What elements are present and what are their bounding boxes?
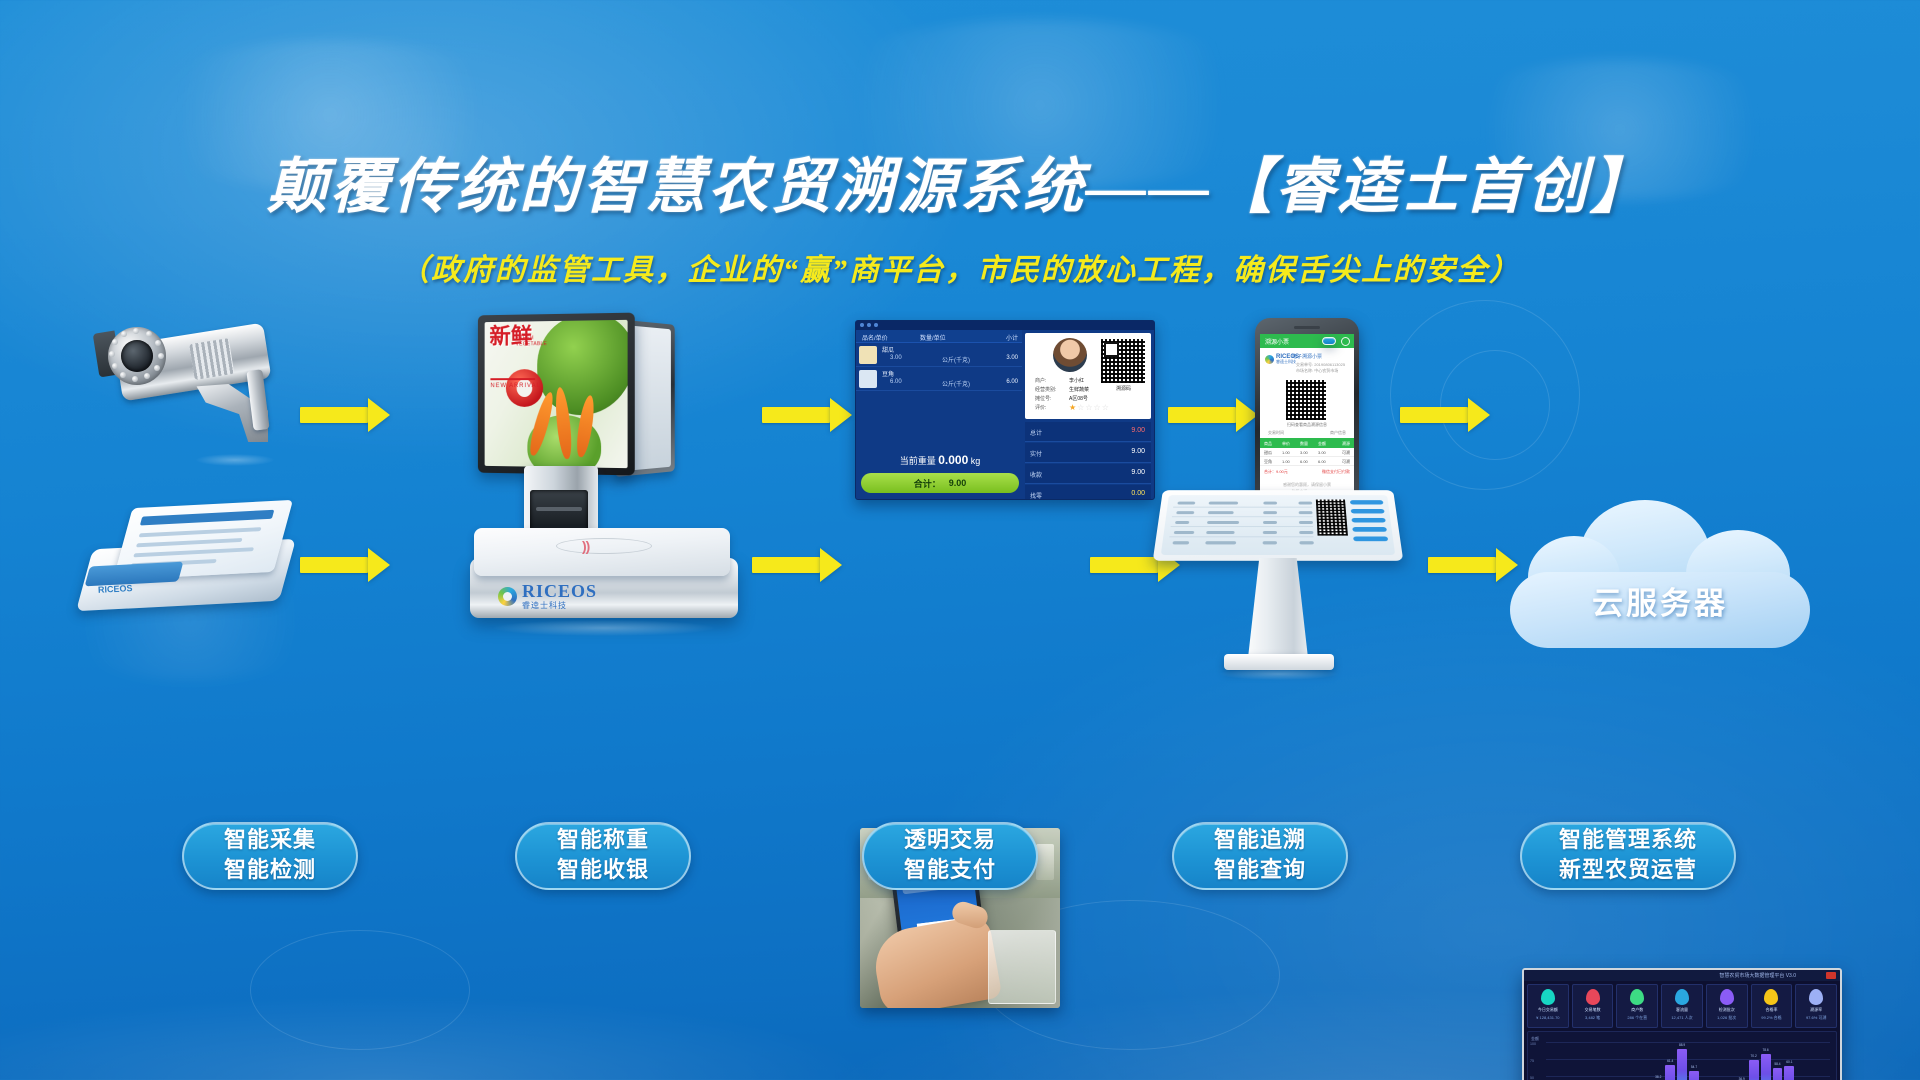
chart-bar-value: 54.7 <box>1691 1065 1697 1069</box>
vendor-field-val: 李小红 <box>1069 377 1084 384</box>
item-qty: 6.00 <box>890 379 902 385</box>
pill-line-1: 透明交易 <box>904 826 996 856</box>
table-row[interactable]: 豆角 6.00 公斤(千克) 6.00 <box>856 367 1024 391</box>
td: 6.00 <box>1300 459 1308 464</box>
phone-menu-icon[interactable] <box>1322 337 1336 345</box>
vendor-field-val: A区08号 <box>1069 395 1088 402</box>
advert-english: FRESHVEGETABLE <box>516 335 548 348</box>
pill-weigh-cashier[interactable]: 智能称重 智能收银 <box>515 822 691 890</box>
amount-key: 实付 <box>1030 449 1042 458</box>
pill-line-2: 智能检测 <box>224 856 316 886</box>
receipt-qr-caption: 扫码查看商品溯源信息 <box>1260 422 1354 428</box>
td: 可溯 <box>1342 450 1350 456</box>
kpi-card[interactable]: 商户数 286 个在营 <box>1616 984 1658 1028</box>
phone-close-icon[interactable] <box>1341 337 1350 346</box>
rfid-icon: )) <box>582 538 589 554</box>
pill-management-system[interactable]: 智能管理系统 新型农贸运营 <box>1520 822 1736 890</box>
pill-line-1: 智能采集 <box>224 826 316 856</box>
trace-col-2: 小计 <box>1006 333 1018 342</box>
chart-bar: 70.2 <box>1749 1060 1759 1080</box>
flow-arrow-4 <box>1400 398 1492 432</box>
page-subtitle: （政府的监管工具，企业的“赢”商平台，市民的放心工程，确保舌尖上的安全） <box>0 245 1920 289</box>
flow-arrow-3 <box>1168 398 1260 432</box>
kpi-label: 今日交易额 <box>1528 1007 1568 1013</box>
scale-main-display: 新鲜 FRESHVEGETABLE NEW ARRIVAL <box>478 313 635 476</box>
kpi-value: ¥ 128,431.70 <box>1528 1015 1568 1020</box>
amount-key: 收款 <box>1030 470 1042 479</box>
chart-bar-value: 38.2 <box>1655 1075 1661 1079</box>
kpi-label: 合格率 <box>1752 1007 1792 1013</box>
vendor-card: 溯源码 商户: 李小红 经营类别: 生鲜蔬菜 摊位号: A区08号 评价: ★☆… <box>1025 333 1151 419</box>
amount-row: 收款 9.00 <box>1025 464 1151 484</box>
kpi-label: 溯源率 <box>1796 1007 1836 1013</box>
kiosk-button[interactable] <box>1351 518 1385 523</box>
capability-pills: 智能采集 智能检测 智能称重 智能收银 透明交易 智能支付 智能追溯 智能查询 … <box>0 822 1920 902</box>
th-1: 单价 <box>1282 441 1290 447</box>
flow-arrow-2 <box>762 398 854 432</box>
th-3: 金额 <box>1318 441 1326 447</box>
total-value: 9.00 <box>949 478 967 488</box>
chart-y-tick: 100 <box>1530 1042 1536 1046</box>
amount-key: 找零 <box>1030 491 1042 500</box>
bar-chart: 金额 1007550250 10.638.261.488.954.730.124… <box>1527 1031 1837 1080</box>
pill-line-2: 智能收银 <box>557 856 649 886</box>
trace-col-1: 数量/单位 <box>920 333 946 342</box>
pill-line-1: 智能管理系统 <box>1559 826 1697 856</box>
kpi-value: 3,482 笔 <box>1573 1015 1613 1021</box>
pill-line-2: 智能查询 <box>1214 856 1306 886</box>
kiosk-qr-code[interactable] <box>1316 499 1348 535</box>
dashboard-title: 智慧农贸市场大数据管理平台 V3.0 <box>1719 972 1796 979</box>
kpi-label: 交易笔数 <box>1573 1007 1613 1013</box>
camera-ridges <box>189 338 234 380</box>
kpi-label: 检测批次 <box>1707 1007 1747 1013</box>
amount-value: 0.00 <box>1131 490 1145 497</box>
dashboard-kpi-strip: 今日交易额 ¥ 128,431.70 交易笔数 3,482 笔 商户数 286 … <box>1527 984 1837 1028</box>
camera-ir-leds <box>108 327 166 385</box>
weight-value: 0.000 <box>938 453 968 467</box>
chart-bar-value: 58.4 <box>1774 1062 1780 1066</box>
phone-navbar: 溯源小票 <box>1260 334 1354 348</box>
trace-qr-code[interactable] <box>1101 339 1145 383</box>
receipt-subline-1: 市场名称: 中心农贸市场 <box>1296 368 1338 374</box>
kpi-card[interactable]: 客流量 12,471 人次 <box>1661 984 1703 1028</box>
management-dashboard: 智慧农贸市场大数据管理平台 V3.0 今日交易额 ¥ 128,431.70 交易… <box>1522 968 1842 1080</box>
amount-value: 9.00 <box>1131 469 1145 476</box>
brand-latin: RICEOS <box>522 582 597 602</box>
item-name: 甜瓜 <box>882 345 894 354</box>
td: 可溯 <box>1342 459 1350 465</box>
item-amount: 6.00 <box>1006 379 1018 385</box>
td: 豆角 <box>1264 459 1272 465</box>
vegetable-advert: 新鲜 FRESHVEGETABLE NEW ARRIVAL <box>485 320 628 468</box>
advert-footer: NEW ARRIVAL <box>490 383 540 389</box>
trace-column-header: 品名/单价 数量/单位 小计 <box>856 330 1024 343</box>
trace-sidepanel: 溯源码 商户: 李小红 经营类别: 生鲜蔬菜 摊位号: A区08号 评价: ★☆… <box>1022 330 1154 499</box>
item-name: 豆角 <box>882 369 894 378</box>
phone-speaker <box>1294 326 1320 329</box>
pos-weighing-scale: 新鲜 FRESHVEGETABLE NEW ARRIVAL )) RICEOS … <box>470 314 770 714</box>
dashboard-titlebar: 智慧农贸市场大数据管理平台 V3.0 <box>1524 970 1840 981</box>
kiosk-shadow <box>1220 668 1338 680</box>
vendor-field-val: 生鲜蔬菜 <box>1069 386 1089 393</box>
cloud-server: 云服务器 <box>1510 500 1810 660</box>
vendor-field-key: 商户: <box>1035 377 1046 384</box>
vendor-field-key: 摊位号: <box>1035 395 1051 402</box>
table-row[interactable]: 甜瓜 3.00 公斤(千克) 3.00 <box>856 343 1024 367</box>
kpi-label: 商户数 <box>1617 1007 1657 1013</box>
chart-bar-value: 61.4 <box>1667 1059 1673 1063</box>
kpi-value: 12,471 人次 <box>1662 1015 1702 1021</box>
detector-brand: RICEOS <box>98 583 133 595</box>
td: 6.00 <box>1318 459 1326 464</box>
chart-bar: 88.9 <box>1677 1049 1687 1080</box>
food-safety-detector: RICEOS <box>86 498 296 618</box>
kiosk-button[interactable] <box>1351 509 1385 513</box>
pill-line-1: 智能称重 <box>557 826 649 856</box>
kiosk-button[interactable] <box>1352 527 1387 532</box>
pill-transparent-pay[interactable]: 透明交易 智能支付 <box>862 822 1038 890</box>
receipt-qr-code[interactable] <box>1286 380 1326 420</box>
amount-key: 总计 <box>1030 428 1042 437</box>
item-amount: 3.00 <box>1006 355 1018 361</box>
headline-block: 颠覆传统的智慧农贸溯源系统——【睿逵士首创】 （政府的监管工具，企业的“赢”商平… <box>0 138 1920 289</box>
list-item: 豆角 1.00 6.00 6.00 可溯 <box>1260 457 1354 466</box>
th-4: 溯源 <box>1342 441 1350 447</box>
trace-col-0: 品名/单价 <box>862 333 888 342</box>
chart-bar-value: 78.6 <box>1762 1048 1768 1052</box>
item-thumbnail <box>859 346 877 364</box>
amount-value: 9.00 <box>1131 448 1145 455</box>
amount-value: 9.00 <box>1131 427 1145 434</box>
chart-bar: 58.4 <box>1773 1068 1783 1080</box>
receipt-total-line: 合计：9.00元 微信支付已付款 <box>1260 468 1354 477</box>
td: 甜瓜 <box>1264 450 1272 456</box>
chart-bar-value: 60.1 <box>1786 1060 1792 1064</box>
qr-caption: 溯源码 <box>1116 385 1131 392</box>
chart-y-tick: 75 <box>1530 1059 1534 1063</box>
list-item: 甜瓜 1.00 3.00 3.00 可溯 <box>1260 448 1354 457</box>
chart-bar: 54.7 <box>1689 1071 1699 1080</box>
th-0: 商品 <box>1264 441 1272 447</box>
total-label: 合计： <box>914 477 941 490</box>
kpi-card[interactable]: 溯源率 97.6% 可溯 <box>1795 984 1837 1028</box>
scale-shadow <box>494 620 714 636</box>
kpi-card[interactable]: 合格率 99.2% 合格 <box>1751 984 1793 1028</box>
item-qty: 3.00 <box>890 355 902 361</box>
td: 1.00 <box>1282 450 1290 455</box>
chart-bars: 10.638.261.488.954.730.124.522.836.970.2… <box>1546 1042 1830 1080</box>
phone-nav-title: 溯源小票 <box>1265 337 1289 346</box>
receipt-meta-left: 交易时间 <box>1268 430 1284 436</box>
item-thumbnail <box>859 370 877 388</box>
receipt-paystatus: 微信支付已付款 <box>1322 469 1350 475</box>
receipt-meta-right: 商户信息 <box>1330 430 1346 436</box>
chart-bar: 78.6 <box>1761 1054 1771 1080</box>
phone-screen: 溯源小票 RICEOS 睿逵士科技 电子溯源小票 交易单号: 201908061… <box>1260 334 1354 494</box>
flow-arrow-5 <box>300 548 392 582</box>
kiosk-button[interactable] <box>1350 500 1384 504</box>
item-unit: 公斤(千克) <box>942 355 970 364</box>
total-bar[interactable]: 合计： 9.00 <box>861 473 1019 493</box>
brand-chinese: 睿逵士科技 <box>522 602 597 611</box>
td: 3.00 <box>1300 450 1308 455</box>
flow-arrow-1 <box>300 398 392 432</box>
trace-basket: 品名/单价 数量/单位 小计 甜瓜 3.00 公斤(千克) 3.00 豆角 6.… <box>856 330 1024 499</box>
chart-bar-value: 88.9 <box>1679 1043 1685 1047</box>
vendor-field-key: 评价: <box>1035 404 1046 411</box>
kiosk-button[interactable] <box>1353 536 1388 541</box>
pill-line-2: 新型农贸运营 <box>1559 856 1697 886</box>
kpi-value: 97.6% 可溯 <box>1796 1015 1836 1021</box>
kpi-card[interactable]: 交易笔数 3,482 笔 <box>1572 984 1614 1028</box>
scale-rfid-ring <box>556 538 652 554</box>
rating-stars: ★☆☆☆☆ <box>1069 403 1110 412</box>
pill-trace-query[interactable]: 智能追溯 智能查询 <box>1172 822 1348 890</box>
receipt-title: 电子溯源小票 <box>1260 353 1354 360</box>
goods-basket <box>988 930 1056 1004</box>
kpi-value: 1,026 批次 <box>1707 1015 1747 1021</box>
kpi-value: 286 个在营 <box>1617 1015 1657 1021</box>
kpi-value: 99.2% 合格 <box>1752 1015 1792 1021</box>
scale-brand: RICEOS 睿逵士科技 <box>498 582 597 611</box>
pill-line-1: 智能追溯 <box>1214 826 1306 856</box>
traceability-monitor: 品名/单价 数量/单位 小计 甜瓜 3.00 公斤(千克) 3.00 豆角 6.… <box>855 320 1155 500</box>
chart-bar: 61.4 <box>1665 1065 1675 1080</box>
amount-row: 实付 9.00 <box>1025 443 1151 463</box>
chart-bar-value: 70.2 <box>1751 1054 1757 1058</box>
kiosk-stand <box>1242 558 1314 660</box>
td: 1.00 <box>1282 459 1290 464</box>
kpi-card[interactable]: 今日交易额 ¥ 128,431.70 <box>1527 984 1569 1028</box>
amount-row: 找零 0.00 <box>1025 485 1151 500</box>
amount-row: 总计 9.00 <box>1025 422 1151 442</box>
weight-label: 当前重量 <box>900 456 936 466</box>
vendor-avatar <box>1053 338 1087 372</box>
weight-readout: 当前重量 0.000 kg <box>856 453 1024 467</box>
item-unit: 公斤(千克) <box>942 379 970 388</box>
kiosk-screen[interactable] <box>1153 490 1404 561</box>
flow-arrow-8 <box>1428 548 1520 582</box>
th-2: 数量 <box>1300 441 1308 447</box>
vendor-field-key: 经营类别: <box>1035 386 1056 393</box>
riceos-logo-icon <box>498 587 517 606</box>
flow-diagram: 新鲜 FRESHVEGETABLE NEW ARRIVAL )) RICEOS … <box>0 300 1920 860</box>
trace-titlebar <box>856 321 1154 330</box>
page-title: 颠覆传统的智慧农贸溯源系统——【睿逵士首创】 <box>0 138 1920 225</box>
security-camera <box>100 328 290 478</box>
camera-shadow <box>196 454 274 466</box>
weight-unit: kg <box>971 456 981 466</box>
td: 3.00 <box>1318 450 1326 455</box>
close-icon[interactable] <box>1826 972 1836 979</box>
cloud-label: 云服务器 <box>1510 578 1810 623</box>
flow-arrow-6 <box>752 548 844 582</box>
pill-line-2: 智能支付 <box>904 856 996 886</box>
self-service-kiosk <box>1158 478 1398 678</box>
receipt-total: 合计：9.00元 <box>1264 469 1288 475</box>
receipt-table-header: 商品 单价 数量 金额 溯源 <box>1260 438 1354 448</box>
kpi-card[interactable]: 检测批次 1,026 批次 <box>1706 984 1748 1028</box>
chart-y-tick: 50 <box>1530 1076 1534 1080</box>
kpi-label: 客流量 <box>1662 1007 1702 1013</box>
chart-bar: 60.1 <box>1784 1066 1794 1080</box>
pill-collect-detect[interactable]: 智能采集 智能检测 <box>182 822 358 890</box>
